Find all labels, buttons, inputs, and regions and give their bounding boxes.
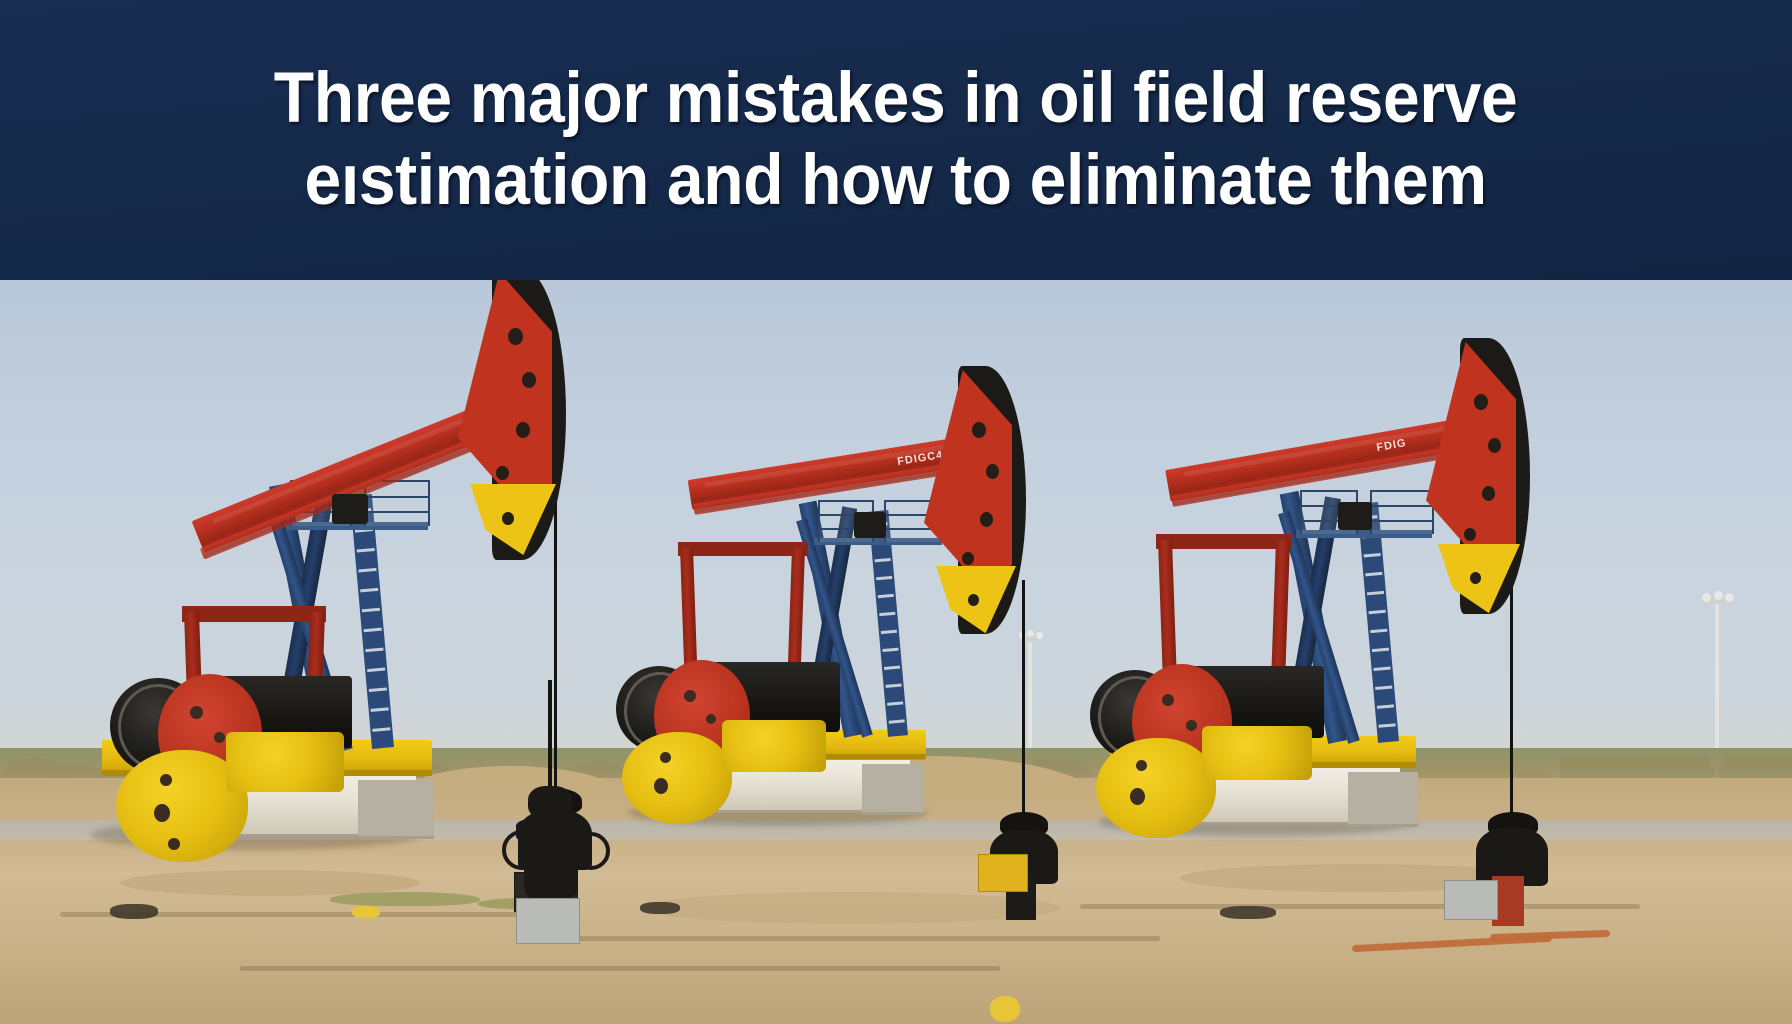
crank-bolt-hole [706,714,716,724]
saddle-bearing [1338,502,1372,530]
ladder-rung [1367,591,1384,595]
counterweight-hole [1136,760,1147,771]
counterweight-rear [722,720,826,772]
pole-lamp [1725,593,1734,602]
crank-bolt-hole [1186,720,1197,731]
ladder-rung [357,548,375,553]
horsehead-center [900,360,1040,640]
horsehead-left [430,280,580,560]
ladder-rung [881,630,897,634]
counterweight-hole [1130,788,1145,805]
ladder-rung [367,668,385,673]
ladder-rung [876,576,892,580]
ladder-rung [1375,685,1392,689]
ladder-rung [887,701,903,705]
concrete-pad [358,780,434,839]
horsehead-hole [968,594,979,606]
pole-lamp [1714,591,1723,600]
horsehead-hole [496,466,509,480]
ladder-rung [885,684,901,688]
concrete-pad [1348,772,1418,827]
horsehead-hole [986,464,999,479]
ladder-rung [1370,629,1387,633]
headline-banner: Three major mistakes in oil field reserv… [0,0,1792,280]
horsehead-hole [980,512,993,527]
ground-marker [990,996,1020,1022]
wellhead-control-box [1444,880,1498,920]
ladder-rung [884,666,900,670]
saddle-bearing [332,494,368,524]
horsehead-hole [1470,572,1481,584]
horsehead-hole [1482,486,1495,501]
horsehead-hole [1488,438,1501,453]
ladder-rung [1372,648,1389,652]
article-banner-image: Three major mistakes in oil field reserv… [0,0,1792,1024]
counterweight-hole [154,804,170,822]
counterweight-hole [160,774,172,786]
ladder-rung [364,628,382,633]
wellhead-valve-upper [528,786,572,820]
ladder-rung [1365,572,1382,576]
ladder-rung [1369,610,1386,614]
horsehead-hole [508,328,523,345]
saddle-bearing [854,512,886,538]
ladder-rung [1373,667,1390,671]
counterweight-rear [226,732,344,792]
horsehead-hole [1474,394,1488,410]
counterweight-rear [1202,726,1312,780]
concrete-pad [862,764,924,815]
ladder-rung [360,588,378,593]
headline-line-2: eıstimation and how to eliminate them [305,145,1487,217]
crank-bolt-hole [214,732,225,743]
access-ladder [350,494,394,749]
horsehead-hole [502,512,514,525]
counterweight-hole [168,838,180,850]
wellhead-handwheel [502,830,542,870]
wellhead-handwheel [572,832,610,870]
ladder-rung [889,719,905,723]
horsehead-hole [522,372,536,388]
wellhead-control-box [978,854,1028,892]
counterweight-hole [654,778,668,794]
railing-bar [366,496,428,498]
counterweight [622,732,732,824]
horsehead-hole [1464,528,1476,541]
ladder-rung [372,727,390,732]
ladder-rung [1377,704,1394,708]
crank-bolt-hole [190,706,203,719]
crank-bolt-hole [684,690,696,702]
counterweight [1096,738,1216,838]
horsehead-hole [962,552,974,565]
wellhead-stem [548,680,552,800]
wellhead-meter-box [516,898,580,944]
railing-bar [366,511,428,513]
oilfield-photo: FDIGC4 [0,280,1792,1024]
ladder-rung [365,648,383,653]
pole-lamp [1702,593,1711,602]
ladder-rung [369,687,387,692]
horsehead-right [1400,330,1545,620]
crank-bolt-hole [1162,694,1174,706]
counterweight-hole [660,752,671,763]
equalizer-bar [1156,534,1292,549]
equalizer-bar [182,606,326,622]
ladder-rung [879,612,895,616]
ladder-rung [358,568,376,573]
ladder-rung [882,648,898,652]
wellhead-christmas-tree [500,680,620,980]
ladder-rung [1364,553,1381,557]
horsehead-hole [972,422,986,438]
ladder-rung [878,594,894,598]
ladder-rung [371,707,389,712]
headline-line-1: Three major mistakes in oil field reserv… [274,63,1518,135]
ladder-rung [1378,723,1395,727]
access-ladder [1357,502,1399,743]
equalizer-bar [678,542,808,556]
ladder-rung [875,558,891,562]
horsehead-hole [516,422,530,438]
ladder-rung [362,608,380,613]
